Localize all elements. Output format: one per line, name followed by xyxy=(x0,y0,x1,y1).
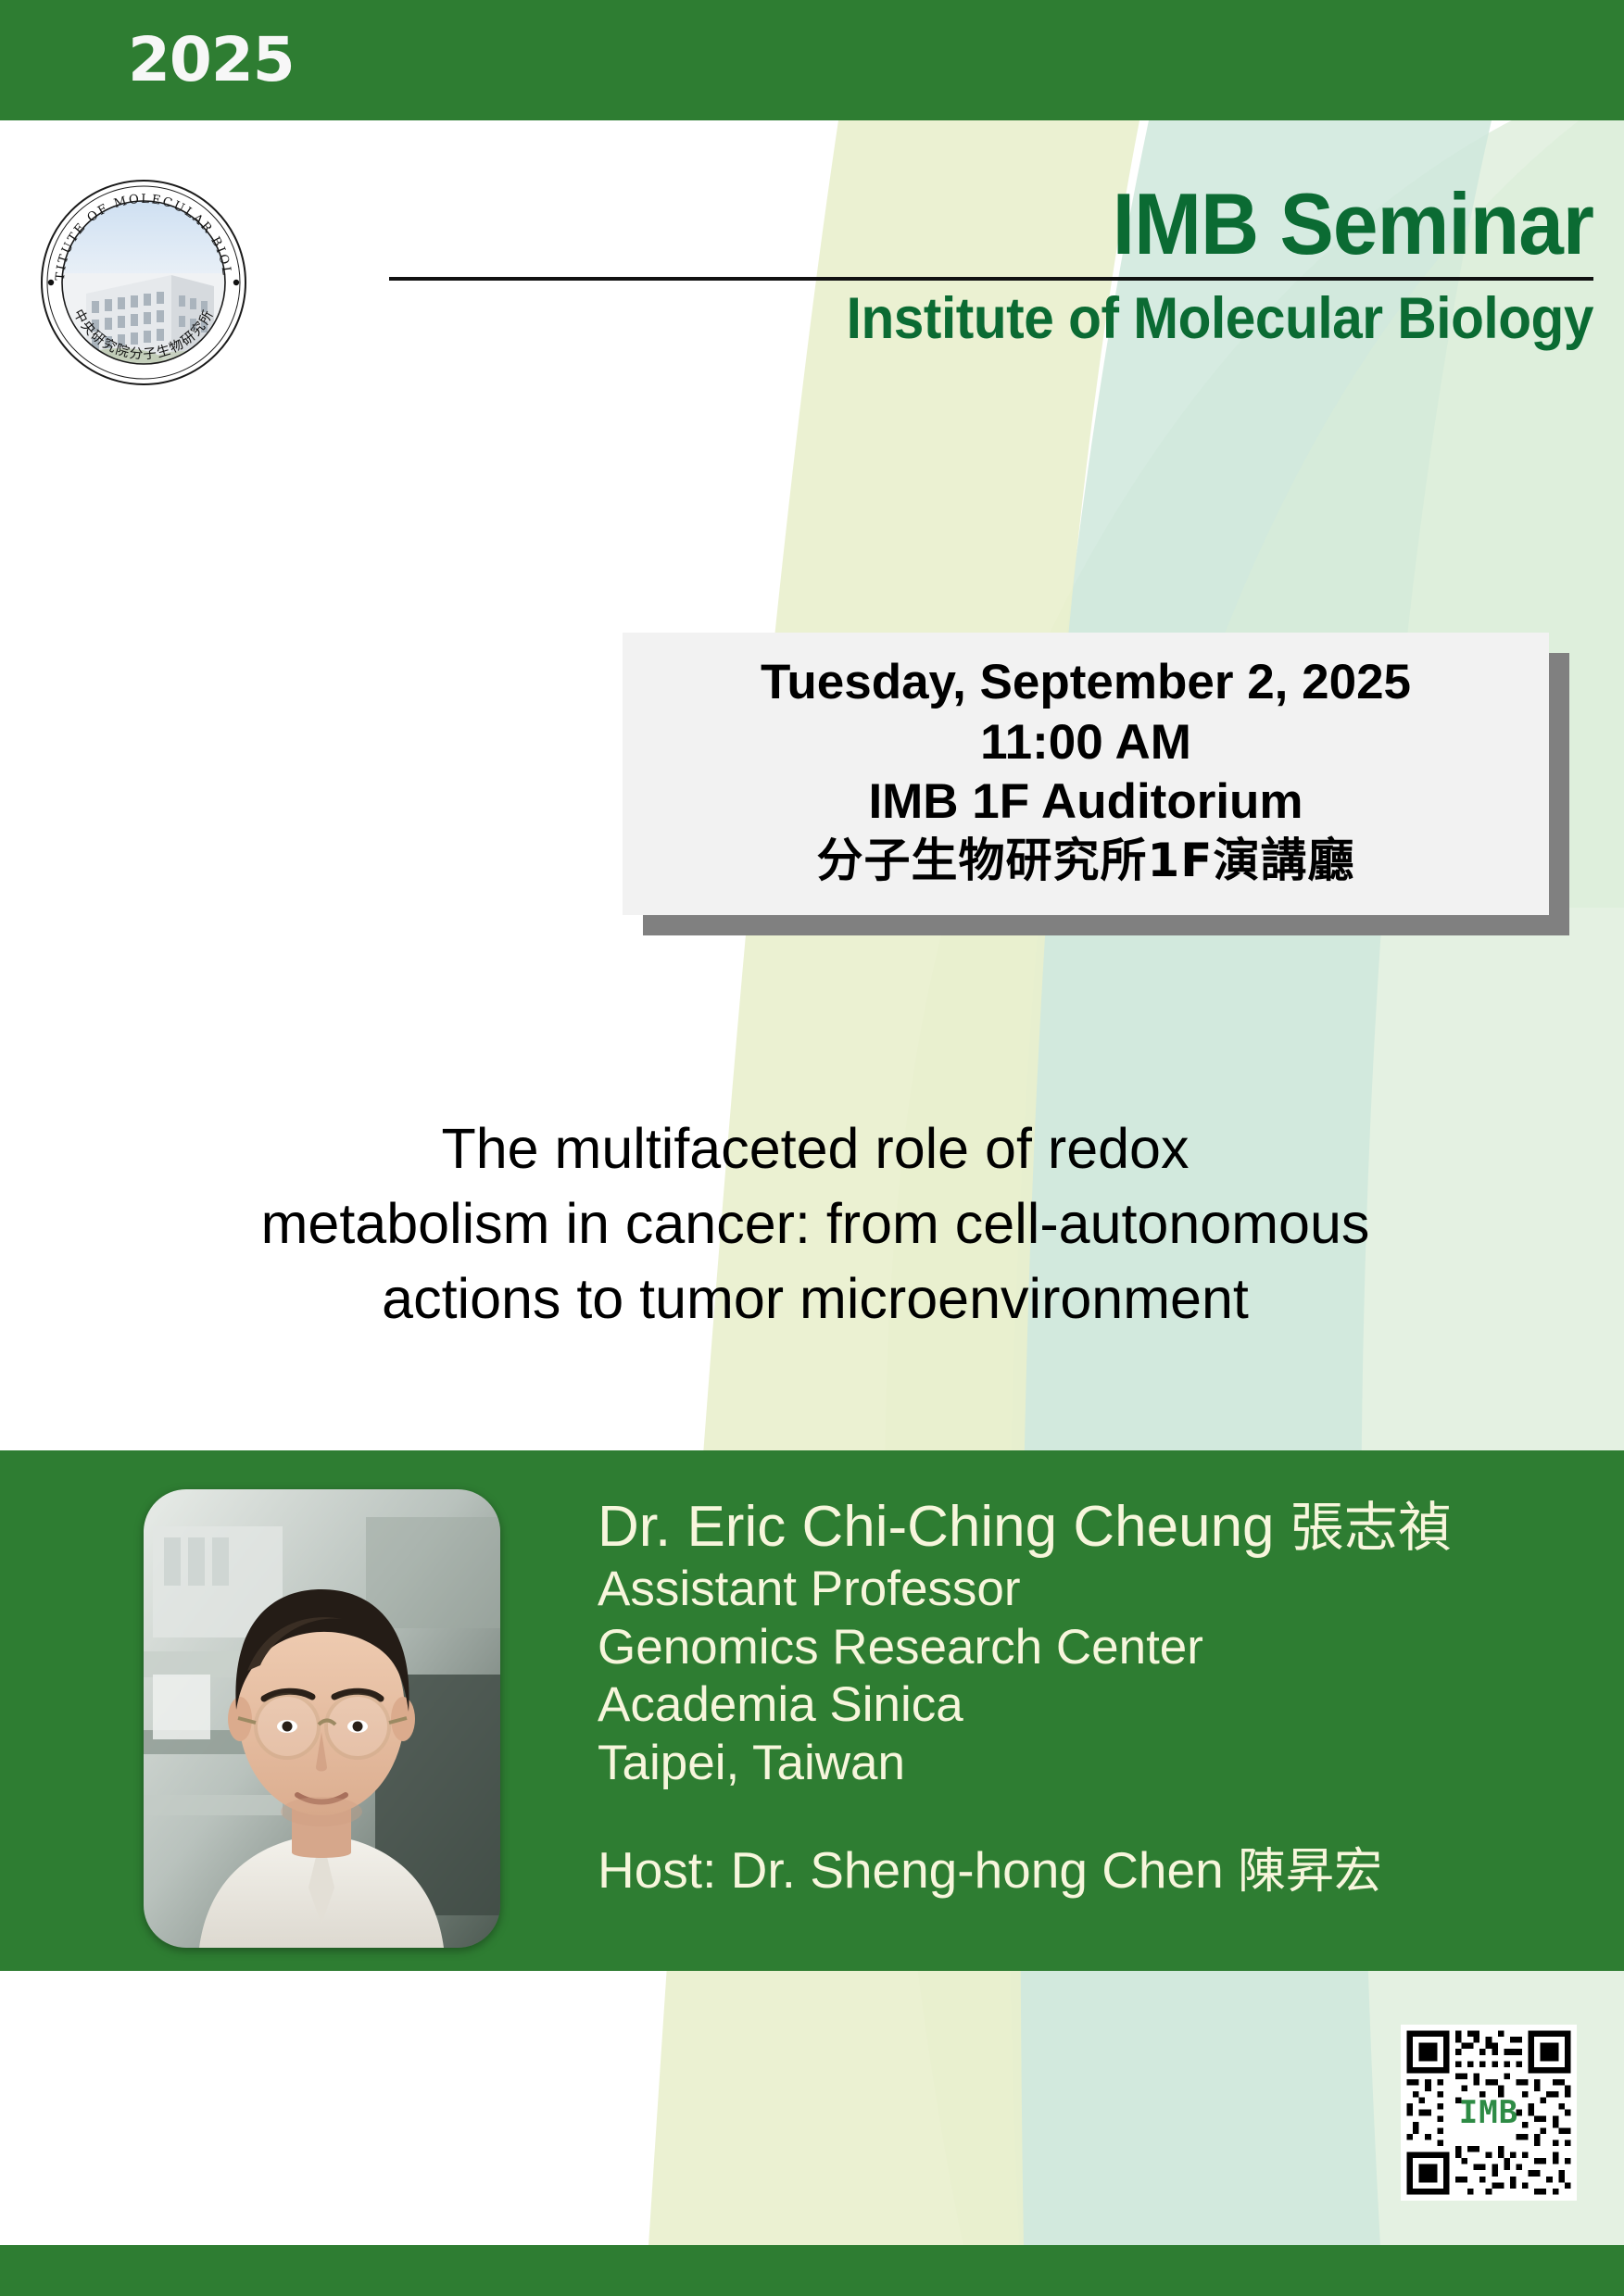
seminar-title-line-3: actions to tumor microenvironment xyxy=(102,1261,1529,1336)
page-title: IMB Seminar xyxy=(473,181,1593,268)
speaker-location: Taipei, Taiwan xyxy=(598,1735,1580,1793)
event-box: Tuesday, September 2, 2025 11:00 AM IMB … xyxy=(623,633,1549,915)
speaker-name: Dr. Eric Chi-Ching Cheung 張志禎 xyxy=(598,1493,1580,1561)
speaker-department: Genomics Research Center xyxy=(598,1619,1580,1677)
speaker-name-en: Dr. Eric Chi-Ching Cheung xyxy=(598,1495,1275,1559)
host-name-zh: 陳昇宏 xyxy=(1238,1844,1382,1900)
header-title-block: IMB Seminar Institute of Molecular Biolo… xyxy=(389,181,1593,349)
seal-dot-left xyxy=(48,280,54,285)
header-divider xyxy=(389,277,1593,281)
speaker-position: Assistant Professor xyxy=(598,1561,1580,1619)
event-date: Tuesday, September 2, 2025 xyxy=(761,653,1411,713)
seminar-title-line-2: metabolism in cancer: from cell-autonomo… xyxy=(102,1186,1529,1261)
speaker-name-zh: 張志禎 xyxy=(1290,1496,1452,1559)
speaker-institution: Academia Sinica xyxy=(598,1676,1580,1735)
top-green-bar: 2025 xyxy=(0,0,1624,120)
seminar-title-line-1: The multifaceted role of redox xyxy=(102,1111,1529,1186)
event-time: 11:00 AM xyxy=(980,713,1191,773)
seminar-title: The multifaceted role of redox metabolis… xyxy=(102,1111,1529,1336)
event-venue-en: IMB 1F Auditorium xyxy=(868,772,1303,833)
event-details-box: Tuesday, September 2, 2025 11:00 AM IMB … xyxy=(623,633,1549,915)
speaker-photo-svg xyxy=(144,1489,500,1948)
event-venue-zh: 分子生物研究所1F演講廳 xyxy=(817,833,1355,889)
seal-dot-right xyxy=(233,280,239,285)
bottom-green-bar xyxy=(0,2245,1624,2296)
qr-code-svg xyxy=(1401,2025,1577,2201)
host-label: Host: xyxy=(598,1841,716,1899)
speaker-info: Dr. Eric Chi-Ching Cheung 張志禎 Assistant … xyxy=(598,1493,1580,1901)
speaker-photo xyxy=(144,1489,500,1948)
seminar-poster: 2025 xyxy=(0,0,1624,2296)
imb-seal-logo: INSTITUTE OF MOLECULAR BIOLOGY 中央研究院分子生物… xyxy=(32,171,255,394)
host-name-en: Dr. Sheng-hong Chen xyxy=(731,1841,1224,1899)
qr-code[interactable]: IMB xyxy=(1401,2025,1577,2201)
host-line: Host: Dr. Sheng-hong Chen 陳昇宏 xyxy=(598,1840,1580,1901)
speaker-spacer xyxy=(598,1792,1580,1840)
seal-svg: INSTITUTE OF MOLECULAR BIOLOGY 中央研究院分子生物… xyxy=(32,171,255,394)
page-subtitle: Institute of Molecular Biology xyxy=(473,288,1593,349)
year-label: 2025 xyxy=(128,30,295,91)
